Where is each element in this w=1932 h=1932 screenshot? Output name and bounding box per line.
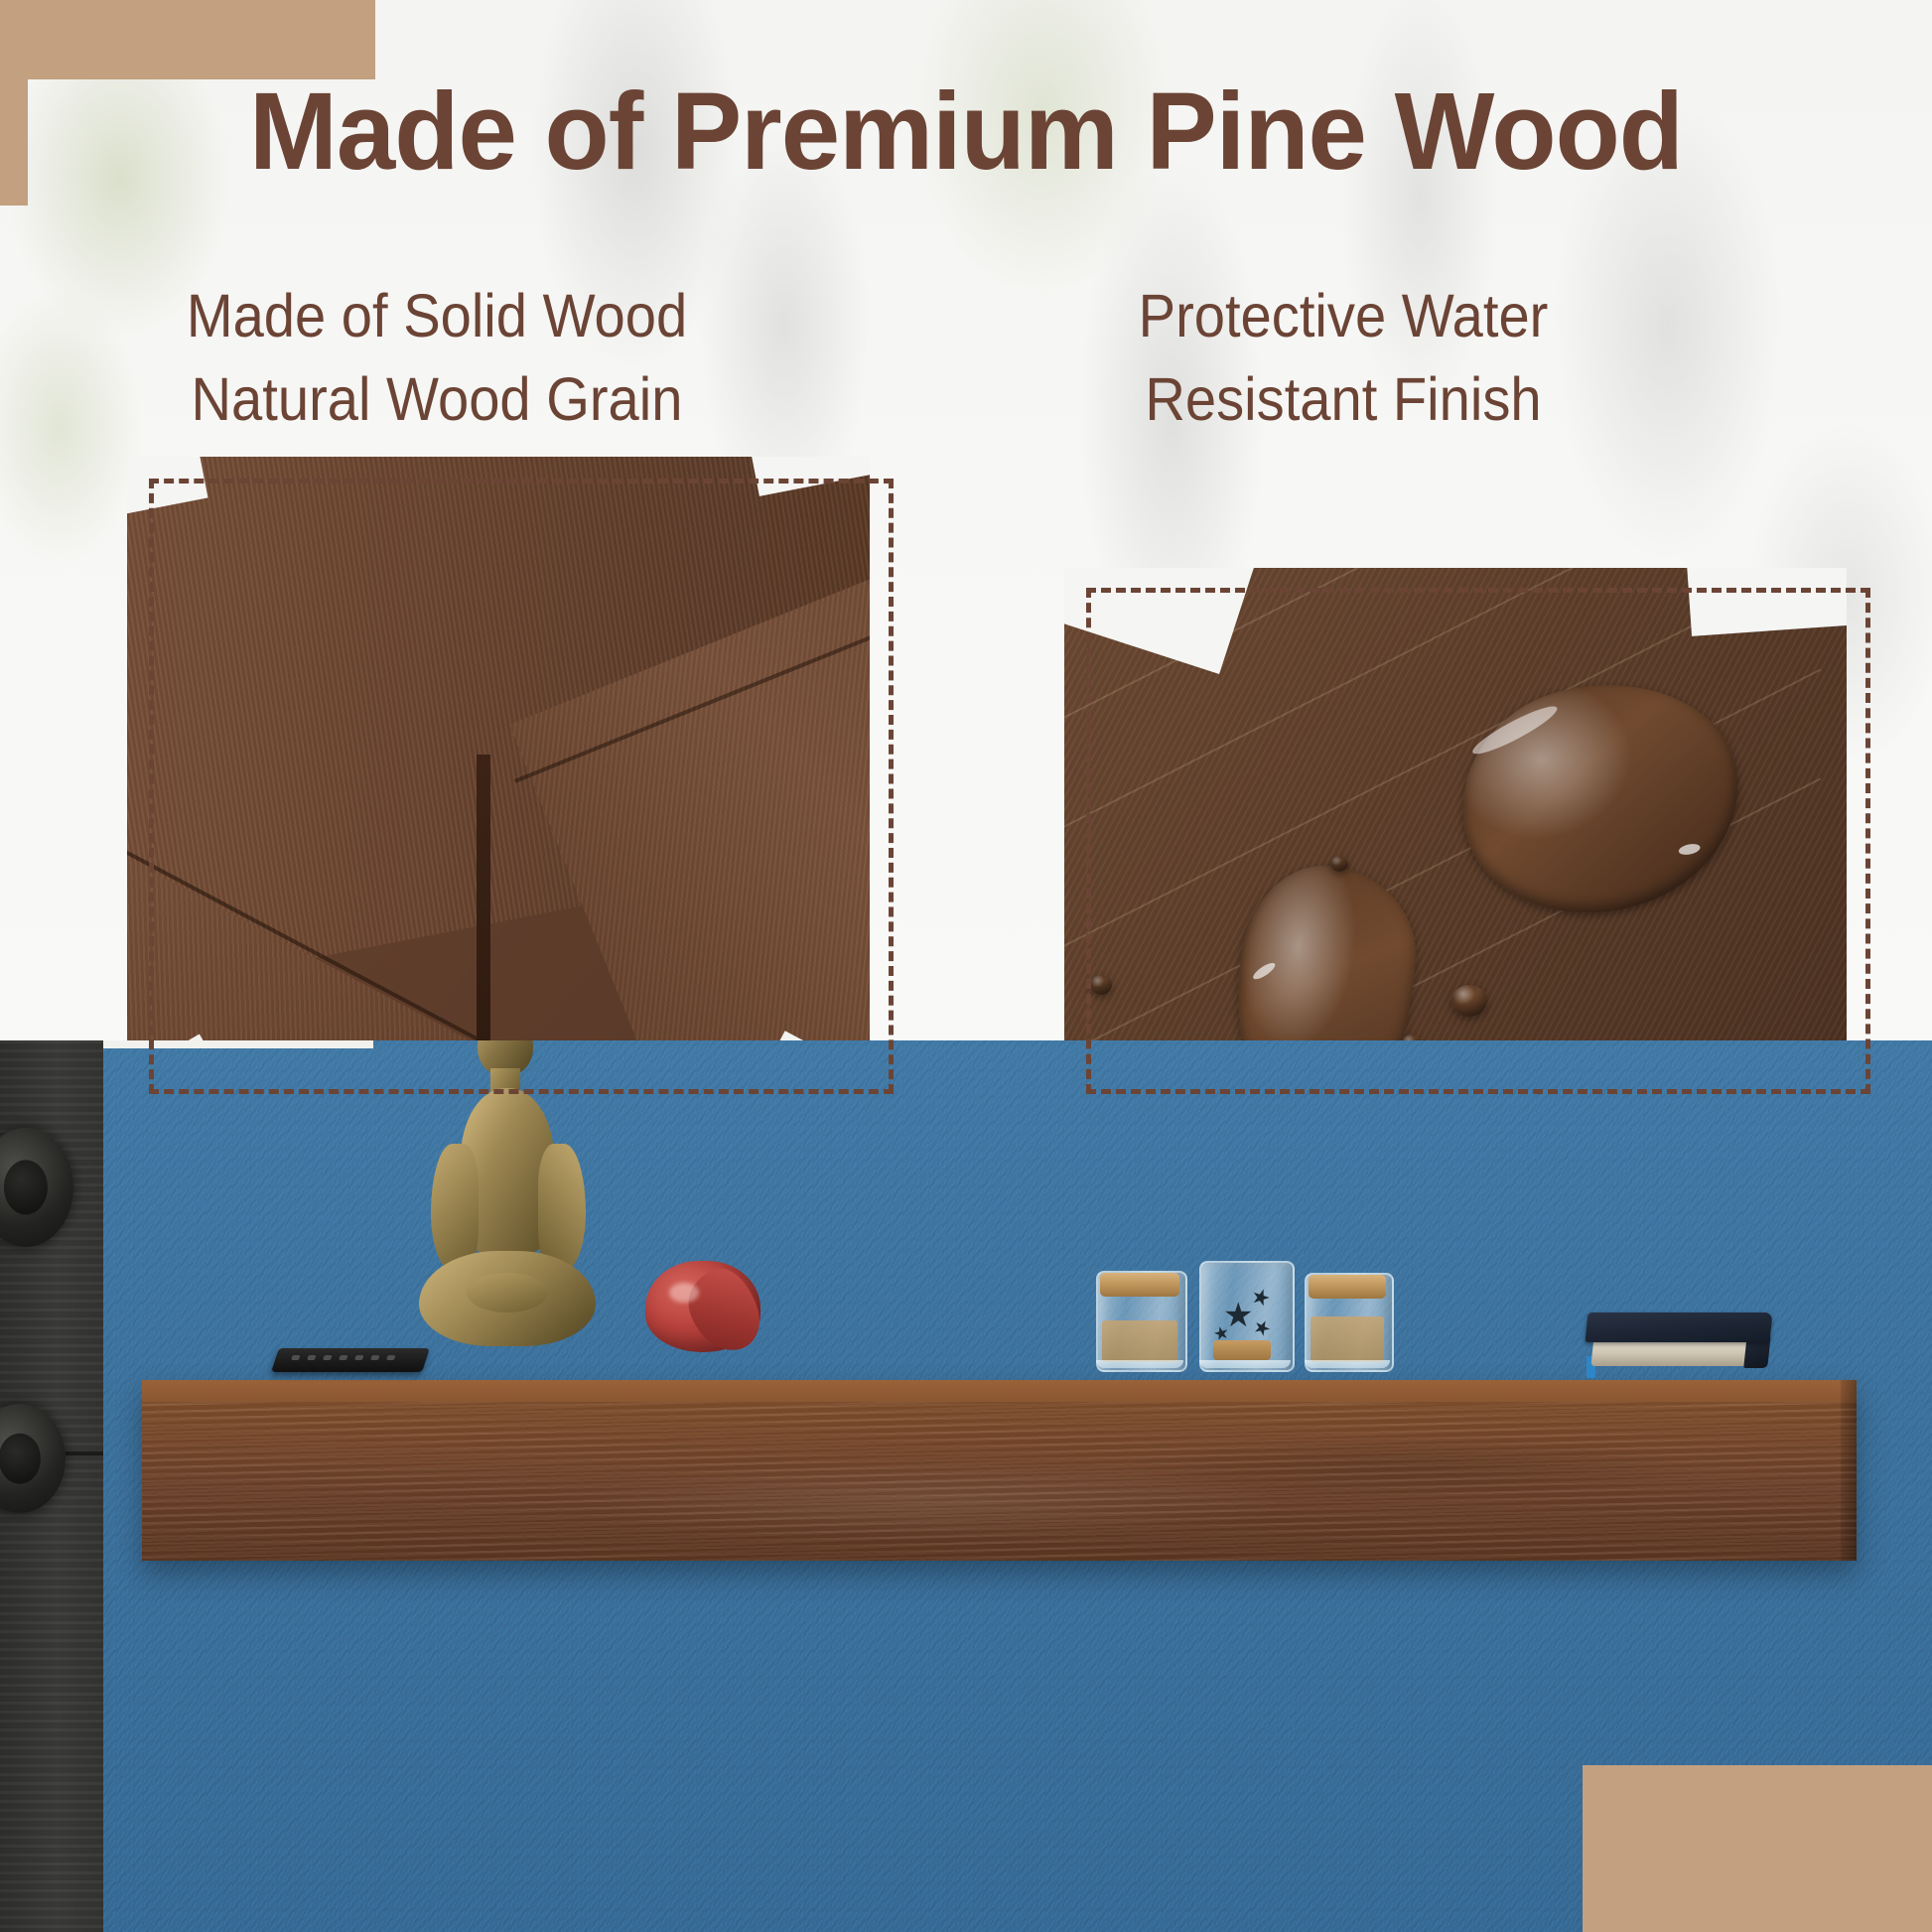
feature-heading-line1: Protective Water — [801, 274, 1884, 357]
page-title: Made of Premium Pine Wood — [29, 77, 1903, 187]
water-droplet-large — [1441, 658, 1759, 937]
feature-heading-solid-wood: Made of Solid Wood Natural Wood Grain — [35, 274, 839, 441]
jar-base — [1096, 1360, 1183, 1368]
jar-cork-lid — [1309, 1275, 1386, 1299]
shelf-front-grain — [142, 1404, 1857, 1561]
jar-cork-base — [1213, 1340, 1271, 1360]
feature-image-solid-wood — [127, 457, 870, 1075]
jar-contents — [1311, 1316, 1384, 1362]
buddha-left-arm — [431, 1144, 479, 1271]
shelf-top-surface — [142, 1380, 1857, 1402]
corner-accent-top-left-vertical — [0, 0, 28, 206]
jar-base — [1305, 1360, 1390, 1368]
buddha-hands — [467, 1273, 548, 1312]
remote-control — [271, 1348, 430, 1372]
glass-jar-3 — [1305, 1273, 1390, 1368]
floating-shelf — [142, 1380, 1857, 1561]
door-knob-inner — [0, 1434, 41, 1484]
feature-heading-line1: Made of Solid Wood — [35, 274, 839, 357]
water-droplet — [1330, 856, 1348, 872]
corner-accent-top-left-horizontal — [0, 0, 375, 79]
corner-accent-bottom-right — [1583, 1765, 1932, 1932]
shelf-right-end — [1841, 1380, 1857, 1561]
jar-base — [1199, 1360, 1291, 1368]
shell-highlight — [669, 1283, 699, 1303]
infographic-page: Made of Premium Pine Wood Made of Solid … — [0, 0, 1932, 1932]
red-shell-ornament — [645, 1261, 760, 1356]
glass-jar-2: ★ ★ ★ ★ — [1199, 1261, 1291, 1368]
glass-jar-1 — [1096, 1271, 1183, 1368]
jar-cork-lid — [1100, 1273, 1179, 1297]
buddha-statue — [415, 1040, 596, 1386]
feature-image-water-resistant — [1064, 568, 1847, 1075]
photo-corner-cut-top-right — [1684, 568, 1847, 636]
book — [1587, 1312, 1771, 1370]
wall-top-trim — [103, 1040, 373, 1048]
photo-corner-cut-top-left — [1064, 568, 1256, 674]
feature-heading-line2: Natural Wood Grain — [35, 357, 839, 441]
feature-heading-water-resistant: Protective Water Resistant Finish — [801, 274, 1884, 441]
water-droplet — [1090, 975, 1112, 995]
jar-contents — [1102, 1320, 1177, 1362]
door-knob-inner — [4, 1160, 48, 1214]
wood-corner-edge — [477, 755, 490, 1075]
book-cover — [1585, 1312, 1772, 1342]
water-droplet — [1451, 985, 1487, 1017]
feature-heading-line2: Resistant Finish — [801, 357, 1884, 441]
buddha-right-arm — [538, 1144, 586, 1271]
